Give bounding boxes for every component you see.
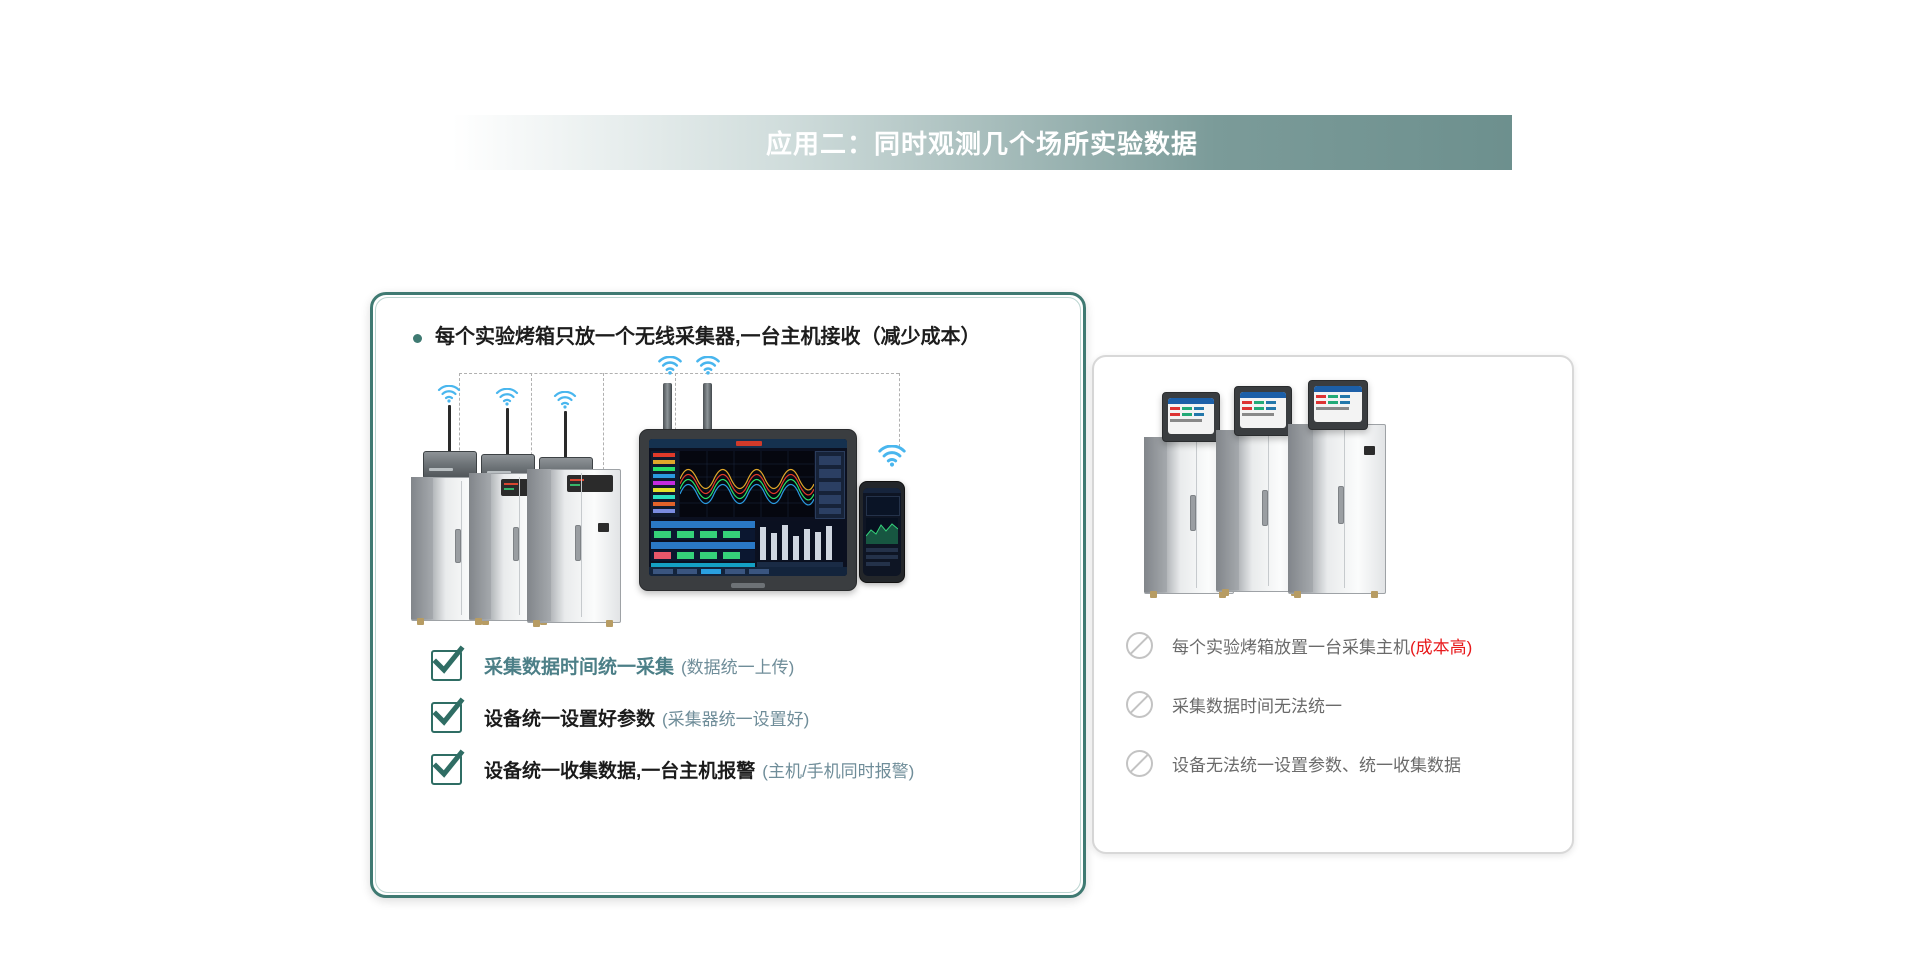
benefit-subtext: (采集器统一设置好): [662, 705, 809, 730]
benefit-text: 采集数据时间统一采集: [484, 652, 674, 679]
prohibited-icon: [1126, 750, 1153, 777]
oven-unit: [1288, 424, 1384, 592]
host-monitor[interactable]: [639, 429, 857, 591]
recorder-unit: [1308, 380, 1368, 430]
recorder-unit: [1162, 392, 1220, 442]
prohibited-icon: [1126, 632, 1153, 659]
prohibited-icon: [1126, 691, 1153, 718]
check-icon: [431, 754, 462, 785]
benefit-text: 设备统一设置好参数: [484, 704, 655, 731]
benefit-text: 设备统一收集数据,一台主机报警: [484, 756, 755, 783]
benefit-subtext: (数据统一上传): [681, 653, 794, 678]
antenna-icon: [663, 383, 672, 431]
oven-unit: [527, 469, 619, 621]
page-title-banner: 应用二：同时观测几个场所实验数据: [452, 115, 1512, 170]
drawback-text: 设备无法统一设置参数、统一收集数据: [1172, 751, 1461, 776]
bullet-dot-icon: [413, 334, 422, 343]
wifi-icon: [657, 356, 683, 380]
monitor-stand: [731, 583, 765, 588]
antenna-icon: [506, 408, 509, 456]
recorder-unit: [1234, 386, 1292, 436]
list-item: 采集数据时间无法统一: [1126, 691, 1472, 718]
wireless-link-branch: [899, 373, 900, 447]
list-item: 设备统一收集数据,一台主机报警 (主机/手机同时报警): [431, 754, 914, 785]
right-illustration: [1144, 382, 1544, 632]
page-title: 应用二：同时观测几个场所实验数据: [766, 124, 1198, 161]
check-icon: [431, 702, 462, 733]
waveform-chart: [680, 451, 814, 517]
monitor-screen[interactable]: [649, 439, 847, 576]
wifi-icon: [877, 445, 907, 472]
check-icon: [431, 650, 462, 681]
list-item: 每个实验烤箱放置一台采集主机(成本高): [1126, 632, 1472, 659]
list-item: 设备统一设置好参数 (采集器统一设置好): [431, 702, 914, 733]
solution-headline-row: 每个实验烤箱只放一个无线采集器,一台主机接收（减少成本）: [413, 323, 981, 351]
drawback-text: 采集数据时间无法统一: [1172, 692, 1342, 717]
solution-headline: 每个实验烤箱只放一个无线采集器,一台主机接收（减少成本）: [435, 323, 981, 351]
wifi-icon: [695, 356, 721, 380]
drawback-list: 每个实验烤箱放置一台采集主机(成本高) 采集数据时间无法统一 设备无法统一设置参…: [1126, 632, 1472, 809]
left-illustration: [403, 355, 1053, 645]
antenna-icon: [703, 383, 712, 431]
drawback-highlight: (成本高): [1410, 638, 1472, 657]
list-item: 采集数据时间统一采集 (数据统一上传): [431, 650, 914, 681]
solution-card: 每个实验烤箱只放一个无线采集器,一台主机接收（减少成本）: [370, 292, 1086, 898]
benefit-subtext: (主机/手机同时报警): [762, 757, 914, 782]
phone-screen[interactable]: [863, 488, 901, 576]
benefit-list: 采集数据时间统一采集 (数据统一上传) 设备统一设置好参数 (采集器统一设置好)…: [431, 650, 914, 806]
list-item: 设备无法统一设置参数、统一收集数据: [1126, 750, 1472, 777]
antenna-icon: [448, 405, 451, 453]
antenna-icon: [564, 411, 567, 459]
drawback-text: 每个实验烤箱放置一台采集主机: [1172, 638, 1410, 657]
mobile-phone[interactable]: [859, 481, 905, 583]
drawback-card: 每个实验烤箱放置一台采集主机(成本高) 采集数据时间无法统一 设备无法统一设置参…: [1092, 355, 1574, 854]
